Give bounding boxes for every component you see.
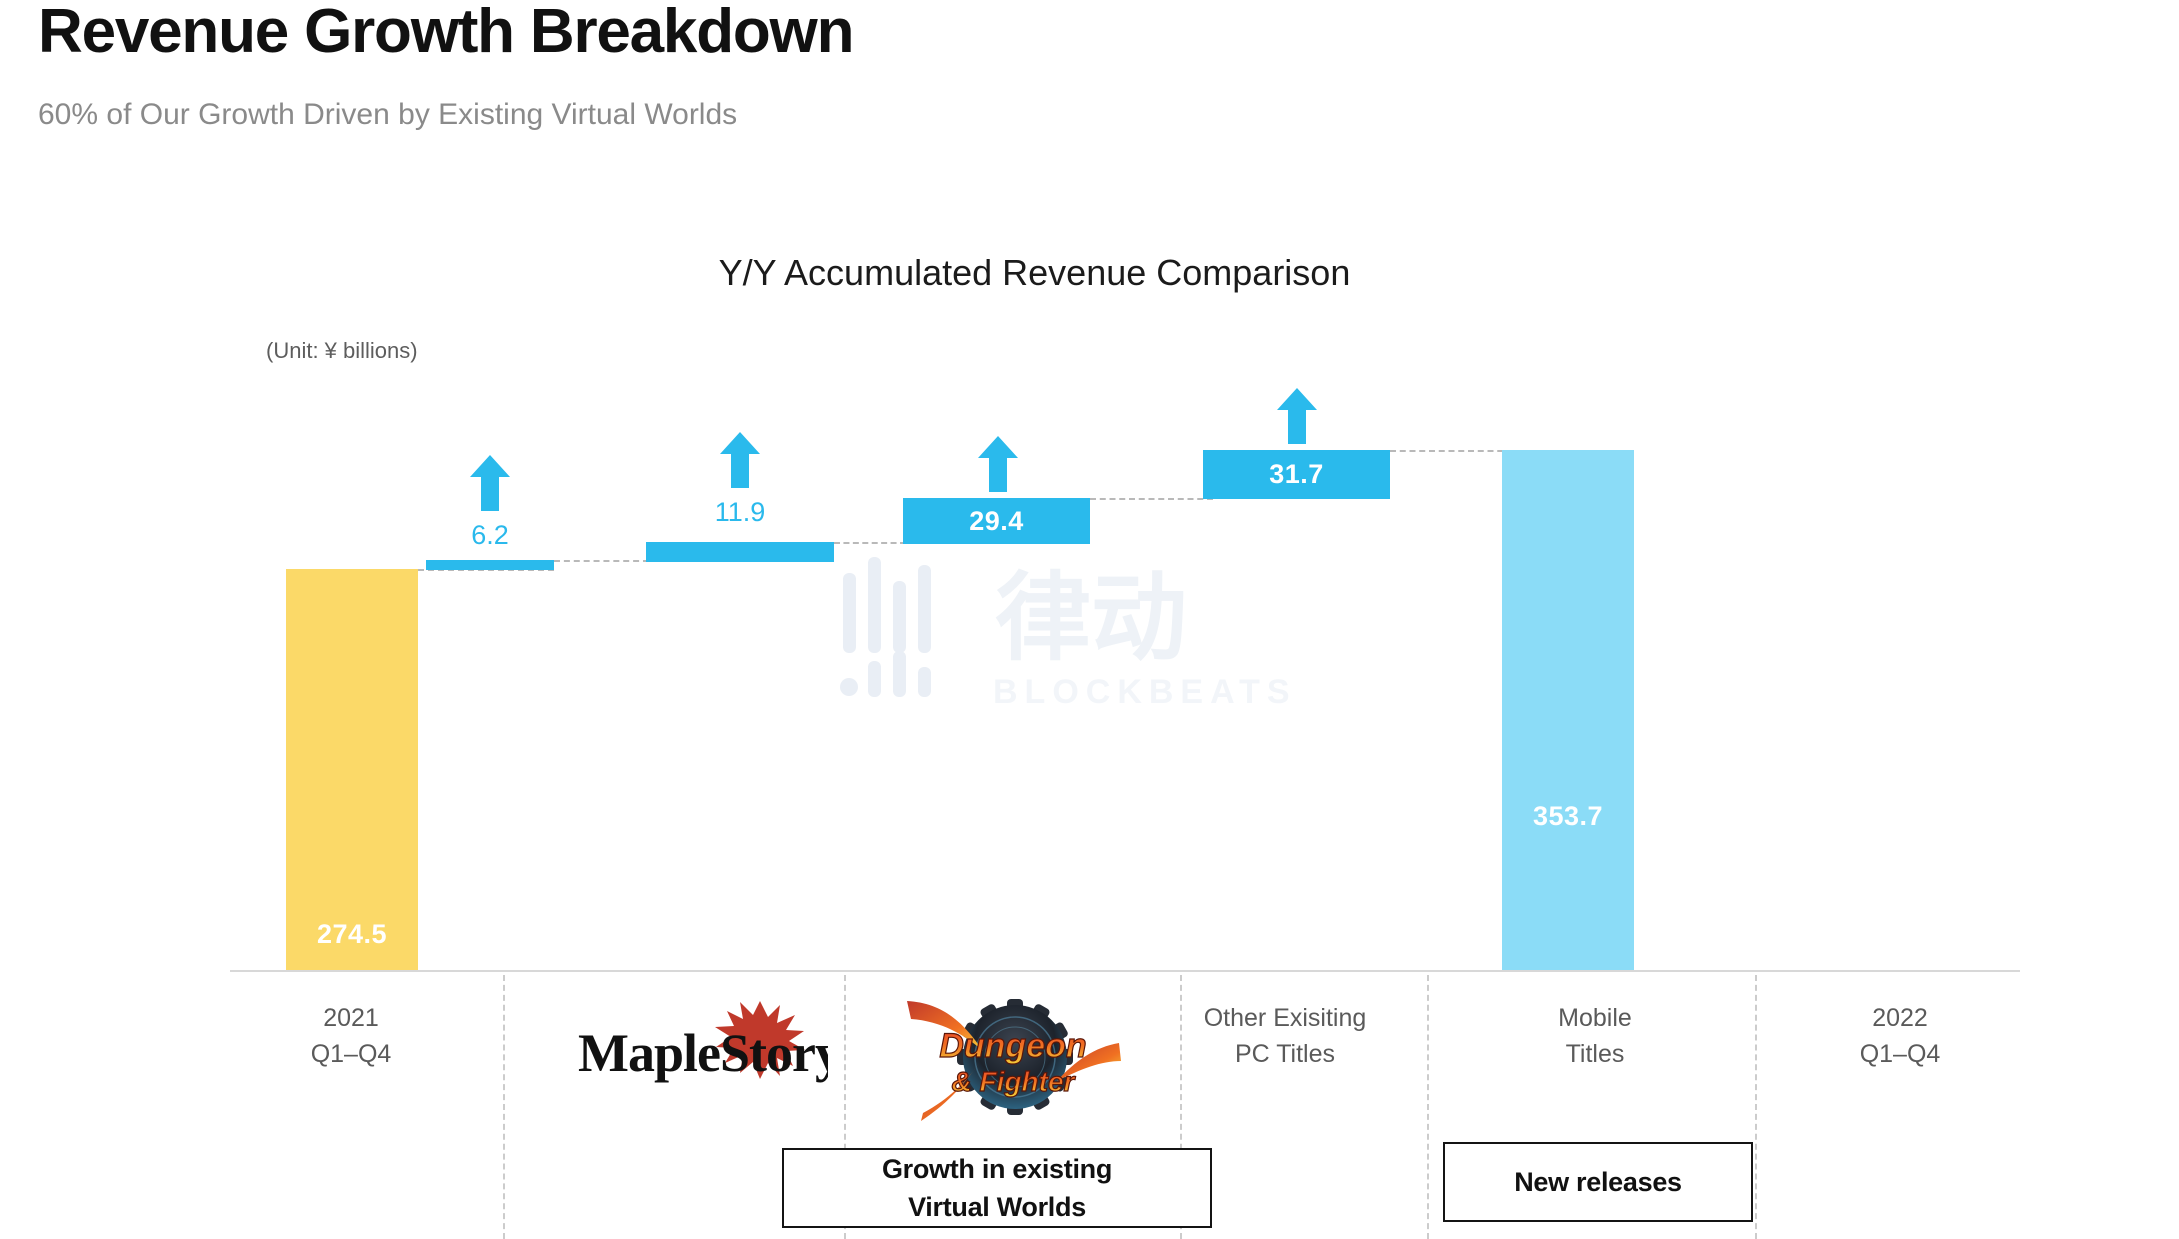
category-label-otherpc-line2: PC Titles: [1190, 1036, 1380, 1072]
callout-new-releases: New releases: [1443, 1142, 1753, 1222]
x-axis-line: [230, 970, 2020, 972]
category-separator-5: [1755, 975, 1757, 1239]
bar-label-mobile: 31.7: [1203, 459, 1390, 490]
bar-2021-total[interactable]: 274.5: [286, 569, 418, 972]
category-separator-1: [503, 975, 505, 1239]
callout-growth-line1: Growth in existing: [882, 1150, 1112, 1188]
category-label-2021: 2021 Q1–Q4: [256, 1000, 446, 1072]
dungeon-fighter-wordmark-top: Dungeon: [939, 1027, 1086, 1065]
category-label-2022-line1: 2022: [1805, 1000, 1995, 1036]
growth-arrow-dungeonfighter: [720, 432, 760, 493]
plot-area: 274.5 6.2 11.9 29.4: [230, 380, 2020, 972]
svg-text:MapleStory: MapleStory: [578, 1023, 828, 1083]
bar-label-2022: 353.7: [1502, 801, 1634, 832]
growth-arrow-maplestory: [470, 455, 510, 516]
category-label-otherpc-line1: Other Exisiting: [1190, 1000, 1380, 1036]
bar-maplestory-increment[interactable]: [426, 560, 554, 570]
category-label-2022-line2: Q1–Q4: [1805, 1036, 1995, 1072]
chart-container: Y/Y Accumulated Revenue Comparison (Unit…: [0, 0, 2179, 1239]
connector-2: [554, 560, 649, 562]
category-label-2022: 2022 Q1–Q4: [1805, 1000, 1995, 1072]
category-label-mobile: Mobile Titles: [1500, 1000, 1690, 1072]
category-separator-4: [1427, 975, 1429, 1239]
category-label-2021-line1: 2021: [256, 1000, 446, 1036]
maplestory-logo: MapleStory: [578, 995, 828, 1085]
bar-mobile-increment[interactable]: 31.7: [1203, 450, 1390, 499]
callout-growth-line2: Virtual Worlds: [908, 1188, 1086, 1226]
dungeon-fighter-logo: Dungeon & Fighter: [905, 985, 1125, 1130]
callout-growth-existing: Growth in existing Virtual Worlds: [782, 1148, 1212, 1228]
bar-label-maplestory: 6.2: [426, 520, 554, 551]
connector-3: [834, 542, 906, 544]
callout-new-releases-line1: New releases: [1514, 1163, 1682, 1201]
connector-4: [1090, 498, 1213, 500]
chart-title: Y/Y Accumulated Revenue Comparison: [0, 252, 2124, 294]
growth-arrow-otherpc: [978, 436, 1018, 497]
bar-label-dungeonfighter: 11.9: [646, 497, 834, 528]
chart-unit-label: (Unit: ¥ billions): [266, 338, 418, 364]
dungeon-fighter-wordmark-bottom: & Fighter: [952, 1066, 1077, 1097]
connector-5: [1390, 450, 1513, 452]
category-label-mobile-line2: Titles: [1500, 1036, 1690, 1072]
category-label-mobile-line1: Mobile: [1500, 1000, 1690, 1036]
category-label-otherpc: Other Exisiting PC Titles: [1190, 1000, 1380, 1072]
bar-2022-total[interactable]: 353.7: [1502, 450, 1634, 972]
category-label-2021-line2: Q1–Q4: [256, 1036, 446, 1072]
bar-label-otherpc: 29.4: [903, 506, 1090, 537]
growth-arrow-mobile: [1277, 388, 1317, 449]
bar-otherpc-increment[interactable]: 29.4: [903, 498, 1090, 544]
bar-dungeonfighter-increment[interactable]: [646, 542, 834, 562]
bar-label-2021: 274.5: [286, 919, 418, 950]
